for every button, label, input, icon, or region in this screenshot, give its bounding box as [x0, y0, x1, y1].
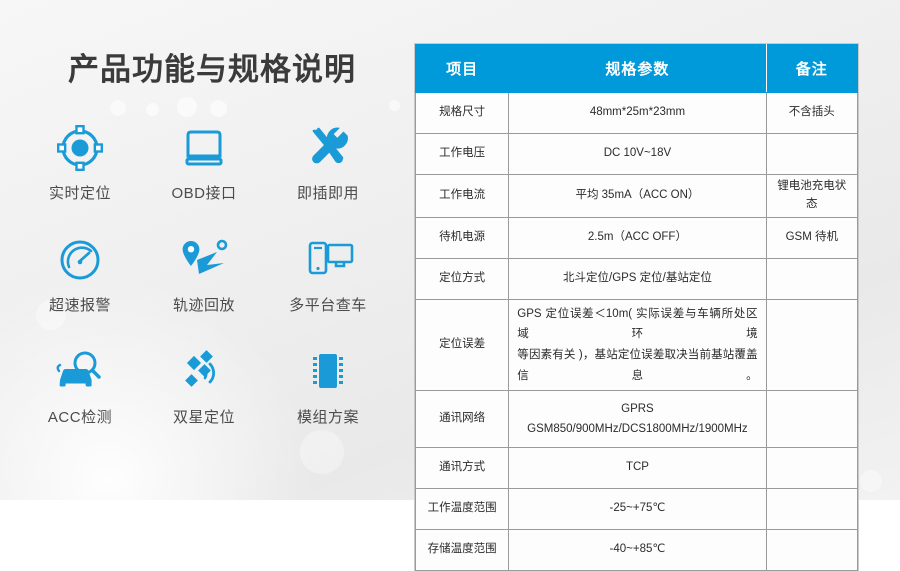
table-row: 通讯网络 GPRS GSM850/900MHz/DCS1800MHz/1900M…: [416, 391, 858, 448]
cell-spec-line2: 等因素有关 )，基站定位误差取决当前基站覆盖信息。: [517, 345, 757, 386]
cell-note: [766, 489, 857, 530]
feature-label: 双星定位: [173, 406, 235, 427]
route-playback-icon: [177, 232, 231, 288]
cell-spec: 平均 35mA（ACC ON）: [509, 175, 766, 218]
cell-spec: TCP: [509, 448, 766, 489]
feature-label: 多平台查车: [289, 294, 367, 315]
cell-note: [766, 258, 857, 299]
table-row: 存储温度范围 -40~+85℃: [416, 530, 858, 571]
table-row: 工作电压 DC 10V~18V: [416, 134, 858, 175]
feature-grid: 实时定位 OBD接口: [18, 120, 390, 456]
table-row: 定位误差 GPS 定位误差＜10m( 实际误差与车辆所处区域环境 等因素有关 )…: [416, 299, 858, 391]
cell-spec-line1: GPS 定位误差＜10m( 实际误差与车辆所处区域环境: [517, 304, 757, 345]
module-chip-icon: [302, 344, 354, 400]
cell-item: 通讯方式: [416, 448, 509, 489]
cell-note: GSM 待机: [766, 217, 857, 258]
cell-item: 规格尺寸: [416, 93, 509, 134]
cell-note: [766, 530, 857, 571]
cell-spec: GPS 定位误差＜10m( 实际误差与车辆所处区域环境 等因素有关 )，基站定位…: [509, 299, 766, 391]
dual-satellite-icon: [177, 344, 231, 400]
table-row: 定位方式 北斗定位/GPS 定位/基站定位: [416, 258, 858, 299]
cell-spec: 48mm*25m*23mm: [509, 93, 766, 134]
cell-note: [766, 299, 857, 391]
cell-note: [766, 134, 857, 175]
cell-item: 通讯网络: [416, 391, 509, 448]
cell-note: 不含插头: [766, 93, 857, 134]
feature-label: OBD接口: [171, 182, 236, 203]
table-row: 通讯方式 TCP: [416, 448, 858, 489]
specification-table: 项目 规格参数 备注 规格尺寸 48mm*25m*23mm 不含插头 工作电压 …: [415, 44, 858, 571]
decor-circle: [860, 470, 882, 492]
cell-item: 定位方式: [416, 258, 509, 299]
cell-spec: -25~+75℃: [509, 489, 766, 530]
feature-label: 模组方案: [297, 406, 359, 427]
table-row: 待机电源 2.5m（ACC OFF） GSM 待机: [416, 217, 858, 258]
column-header-spec: 规格参数: [509, 45, 766, 93]
cell-item: 工作电压: [416, 134, 509, 175]
cell-note: 锂电池充电状态: [766, 175, 857, 218]
feature-label: 轨迹回放: [173, 294, 235, 315]
feature-label: 实时定位: [49, 182, 111, 203]
feature-item-plug-and-play: 即插即用: [266, 120, 390, 232]
realtime-location-icon: [54, 120, 106, 176]
cell-spec-line1: GPRS: [514, 399, 760, 419]
feature-item-dual-satellite: 双星定位: [142, 344, 266, 456]
table-row: 工作电流 平均 35mA（ACC ON） 锂电池充电状态: [416, 175, 858, 218]
feature-label: 超速报警: [49, 294, 111, 315]
product-spec-page: 产品功能与规格说明 实时定位: [0, 0, 900, 500]
obd-port-icon: [178, 120, 230, 176]
cell-item: 工作电流: [416, 175, 509, 218]
feature-label: ACC检测: [48, 406, 112, 427]
feature-item-speed-alarm: 超速报警: [18, 232, 142, 344]
table-row: 规格尺寸 48mm*25m*23mm 不含插头: [416, 93, 858, 134]
feature-item-multi-platform: 多平台查车: [266, 232, 390, 344]
cell-item: 存储温度范围: [416, 530, 509, 571]
cell-item: 定位误差: [416, 299, 509, 391]
feature-item-obd-port: OBD接口: [142, 120, 266, 232]
feature-item-module-solution: 模组方案: [266, 344, 390, 456]
feature-item-realtime-location: 实时定位: [18, 120, 142, 232]
cell-item: 工作温度范围: [416, 489, 509, 530]
cell-spec-line2: GSM850/900MHz/DCS1800MHz/1900MHz: [514, 419, 760, 439]
cell-spec: GPRS GSM850/900MHz/DCS1800MHz/1900MHz: [509, 391, 766, 448]
multi-platform-devices-icon: [300, 232, 356, 288]
cell-note: [766, 391, 857, 448]
table-header-row: 项目 规格参数 备注: [416, 45, 858, 93]
cell-spec: DC 10V~18V: [509, 134, 766, 175]
cell-note: [766, 448, 857, 489]
column-header-note: 备注: [766, 45, 857, 93]
cell-spec: 2.5m（ACC OFF）: [509, 217, 766, 258]
table-row: 工作温度范围 -25~+75℃: [416, 489, 858, 530]
feature-item-route-playback: 轨迹回放: [142, 232, 266, 344]
feature-item-acc-detection: ACC检测: [18, 344, 142, 456]
cell-item: 待机电源: [416, 217, 509, 258]
page-title: 产品功能与规格说明: [68, 44, 356, 89]
column-header-item: 项目: [416, 45, 509, 93]
cell-spec: -40~+85℃: [509, 530, 766, 571]
acc-detection-car-icon: [52, 344, 108, 400]
cell-spec: 北斗定位/GPS 定位/基站定位: [509, 258, 766, 299]
feature-panel: 产品功能与规格说明 实时定位: [0, 0, 400, 500]
feature-label: 即插即用: [297, 182, 359, 203]
speed-alarm-gauge-icon: [54, 232, 106, 288]
plug-and-play-tools-icon: [302, 120, 354, 176]
